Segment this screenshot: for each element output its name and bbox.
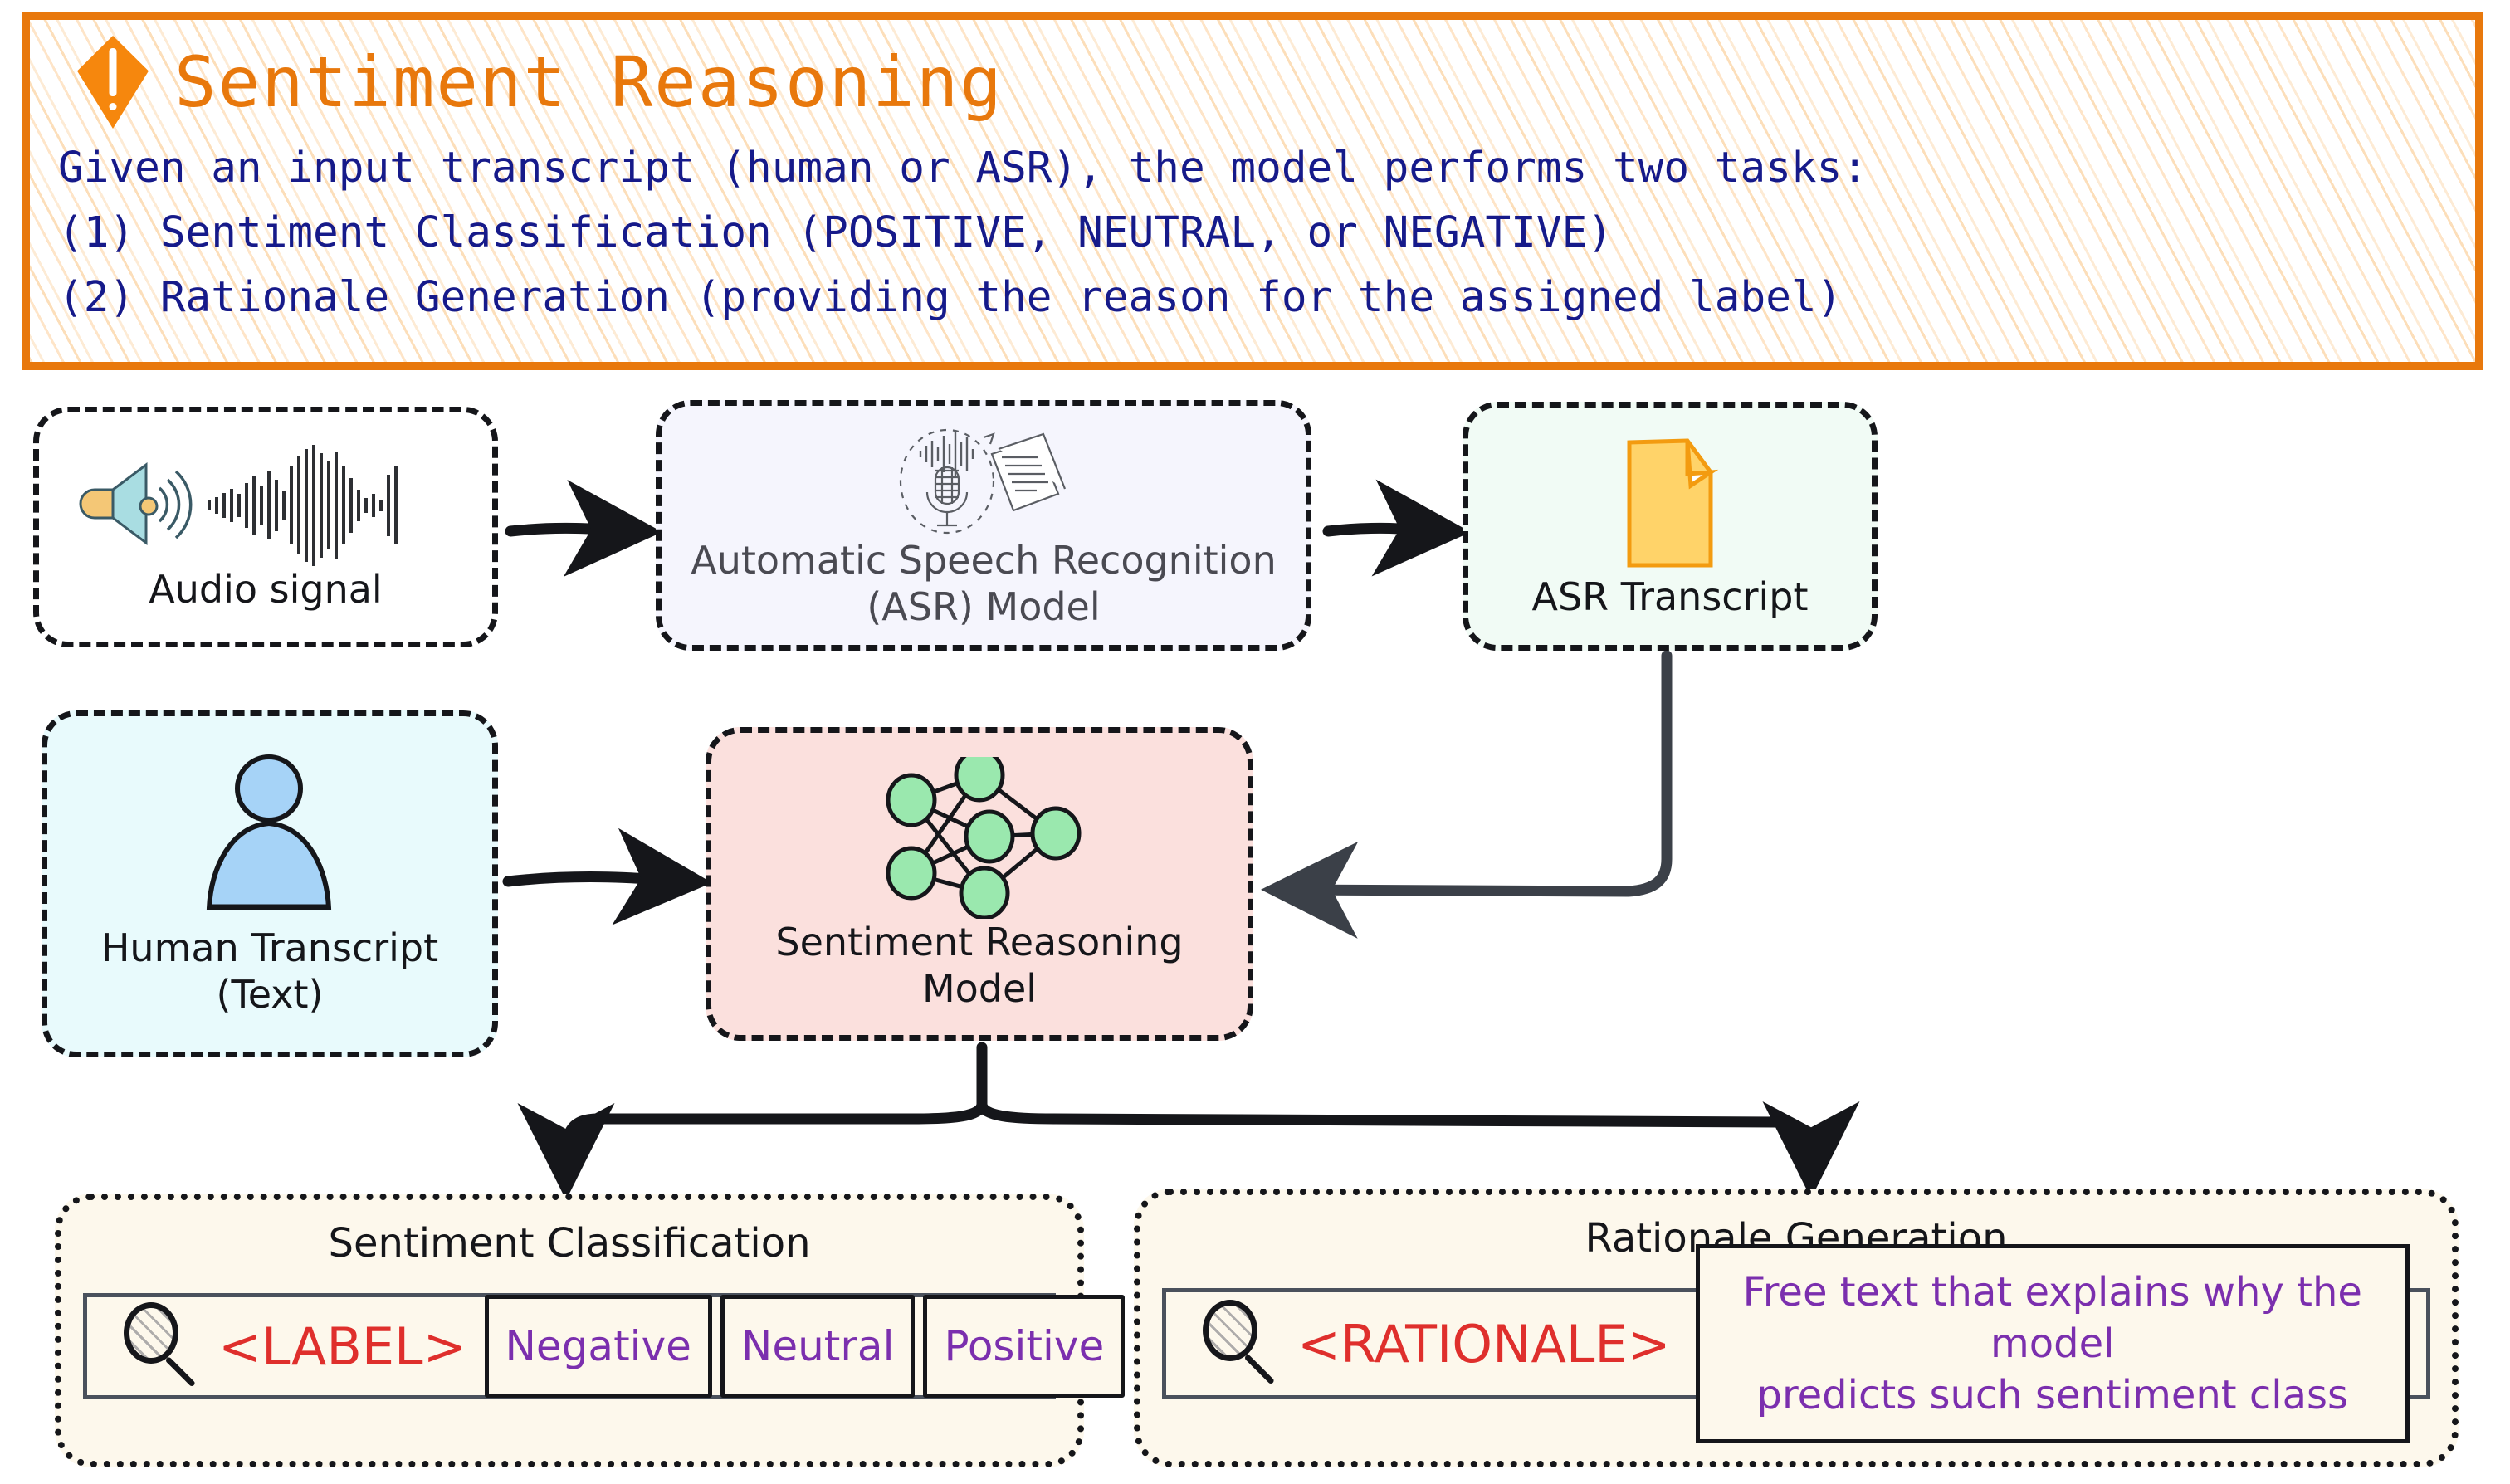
document-page-icon <box>1608 432 1732 574</box>
arrow-asr-model-to-asr-transcript <box>1328 528 1449 531</box>
rationale-text-box[interactable]: Free text that explains why the model pr… <box>1696 1244 2410 1443</box>
node-asr-transcript-label: ASR Transcript <box>1531 574 1808 620</box>
magnifier-icon <box>1199 1298 1276 1389</box>
header-desc-line-2: (1) Sentiment Classification (POSITIVE, … <box>43 201 2475 266</box>
header-banner: Sentiment Reasoning Given an input trans… <box>22 12 2483 370</box>
rationale-text-line-2: predicts such sentiment class <box>1715 1369 2390 1421</box>
node-human-transcript-label-line-1: Human Transcript <box>101 925 438 971</box>
node-asr-model[interactable]: Automatic Speech Recognition (ASR) Model <box>656 400 1311 651</box>
neural-network-icon <box>863 757 1096 919</box>
person-icon <box>183 750 357 925</box>
arrow-srm-to-classification <box>566 1047 982 1179</box>
rationale-output-row: <RATIONALE> Free text that explains why … <box>1162 1288 2430 1399</box>
panel-rationale-generation[interactable]: Rationale Generation <RATIONALE> Free te… <box>1134 1189 2459 1467</box>
node-asr-model-label-line-1: Automatic Speech Recognition <box>691 537 1276 583</box>
node-srm-label-line-1: Sentiment Reasoning <box>775 919 1183 965</box>
label-tag: <LABEL> <box>218 1316 466 1377</box>
sentiment-chip-group: Negative Neutral Positive <box>485 1295 1126 1398</box>
page-title: Sentiment Reasoning <box>174 47 1004 117</box>
sentiment-chip-neutral[interactable]: Neutral <box>720 1295 916 1398</box>
node-human-transcript[interactable]: Human Transcript (Text) <box>42 710 498 1057</box>
node-audio-signal-label: Audio signal <box>149 566 382 613</box>
microphone-document-icon <box>859 421 1108 537</box>
node-audio-signal[interactable]: Audio signal <box>33 407 498 647</box>
panel-sentiment-classification[interactable]: Sentiment Classification <LABEL> Negativ… <box>55 1194 1084 1467</box>
header-desc-line-3: (2) Rationale Generation (providing the … <box>43 266 2475 330</box>
node-asr-model-label-line-2: (ASR) Model <box>867 583 1100 630</box>
classification-output-row: <LABEL> Negative Neutral Positive <box>83 1293 1056 1399</box>
header-desc-line-1: Given an input transcript (human or ASR)… <box>43 136 2475 201</box>
rationale-tag: <RATIONALE> <box>1297 1314 1671 1374</box>
speaker-waveform-icon <box>66 442 465 566</box>
arrow-asr-transcript-to-srm <box>1282 656 1667 891</box>
node-human-transcript-label-line-2: (Text) <box>217 971 324 1018</box>
arrow-srm-to-rationale <box>982 1104 1811 1177</box>
magnifier-icon <box>120 1301 197 1392</box>
arrow-human-to-srm <box>508 877 691 881</box>
warning-diamond-icon <box>73 33 153 131</box>
node-sentiment-reasoning-model[interactable]: Sentiment Reasoning Model <box>706 727 1253 1041</box>
arrow-audio-to-asr-model <box>510 528 641 531</box>
sentiment-chip-positive[interactable]: Positive <box>923 1295 1125 1398</box>
node-srm-label-line-2: Model <box>922 965 1037 1012</box>
node-asr-transcript[interactable]: ASR Transcript <box>1463 402 1878 651</box>
sentiment-chip-negative[interactable]: Negative <box>485 1295 712 1398</box>
panel-sentiment-classification-title: Sentiment Classification <box>61 1220 1077 1267</box>
rationale-text-line-1: Free text that explains why the model <box>1715 1267 2390 1369</box>
